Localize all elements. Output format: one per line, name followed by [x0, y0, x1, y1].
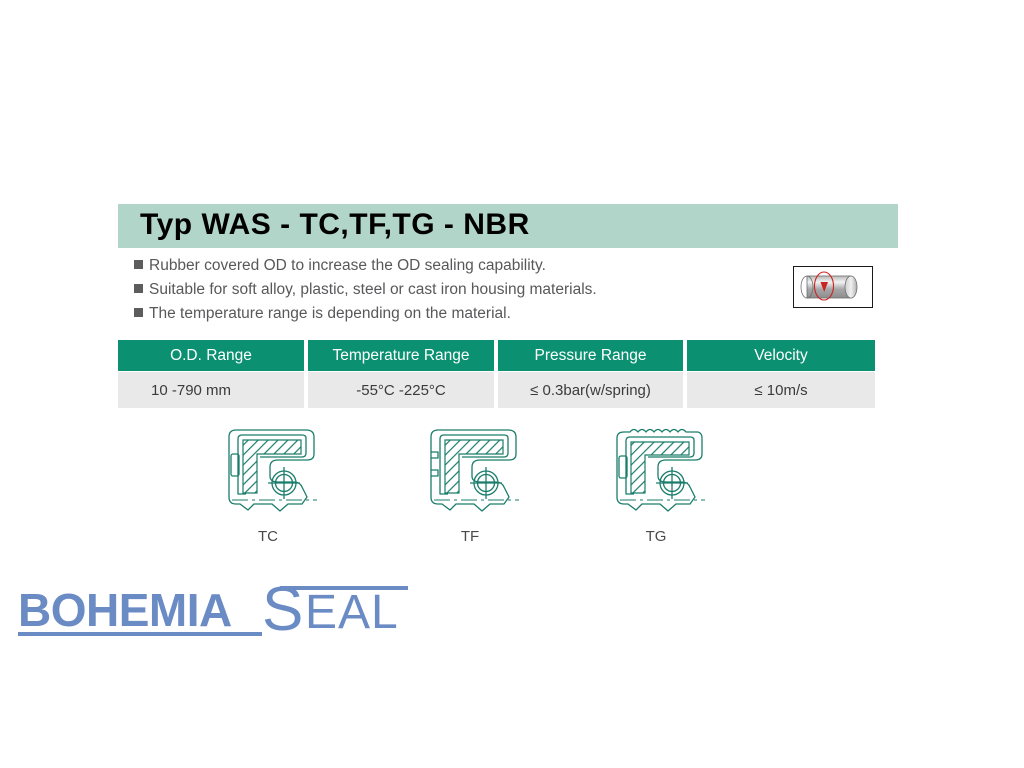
- table-column-velocity: Velocity ≤ 10m/s: [687, 340, 875, 408]
- feature-bullet-list: Rubber covered OD to increase the OD sea…: [134, 257, 774, 329]
- table-cell: ≤ 10m/s: [687, 372, 875, 408]
- bullet-text: Suitable for soft alloy, plastic, steel …: [149, 281, 597, 299]
- column-header: Temperature Range: [308, 340, 494, 371]
- bullet-text: Rubber covered OD to increase the OD sea…: [149, 257, 546, 275]
- table-column-temperature-range: Temperature Range -55°C -225°C: [308, 340, 494, 408]
- bohemia-seal-logo: BOHEMIA S EAL: [18, 578, 418, 648]
- seal-diagram-tf: [416, 424, 532, 529]
- table-cell: -55°C -225°C: [308, 372, 494, 408]
- logo-s-top-bar: [280, 586, 408, 590]
- logo-word-eal: EAL: [305, 586, 399, 639]
- list-item: The temperature range is depending on th…: [134, 305, 774, 329]
- seal-diagram-tg: [602, 424, 718, 529]
- column-header: Velocity: [687, 340, 875, 371]
- seal-label-tc: TC: [238, 528, 298, 545]
- logo-word-bohemia: BOHEMIA: [18, 584, 232, 636]
- list-item: Suitable for soft alloy, plastic, steel …: [134, 281, 774, 305]
- rotating-shaft-icon: [793, 266, 873, 308]
- bullet-text: The temperature range is depending on th…: [149, 305, 511, 323]
- column-header: Pressure Range: [498, 340, 683, 371]
- square-bullet-icon: [134, 308, 143, 317]
- list-item: Rubber covered OD to increase the OD sea…: [134, 257, 774, 281]
- page-title: Typ WAS - TC,TF,TG - NBR: [140, 208, 530, 242]
- seal-diagram-tc: [214, 424, 330, 529]
- column-header: O.D. Range: [118, 340, 304, 371]
- seal-label-tf: TF: [440, 528, 500, 545]
- table-cell: ≤ 0.3bar(w/spring): [498, 372, 683, 408]
- table-cell: 10 -790 mm: [118, 372, 304, 408]
- specification-table: O.D. Range 10 -790 mm Temperature Range …: [118, 340, 875, 408]
- table-column-pressure-range: Pressure Range ≤ 0.3bar(w/spring): [498, 340, 683, 408]
- square-bullet-icon: [134, 260, 143, 269]
- seal-label-tg: TG: [626, 528, 686, 545]
- logo-underline: [18, 632, 262, 636]
- square-bullet-icon: [134, 284, 143, 293]
- table-column-od-range: O.D. Range 10 -790 mm: [118, 340, 304, 408]
